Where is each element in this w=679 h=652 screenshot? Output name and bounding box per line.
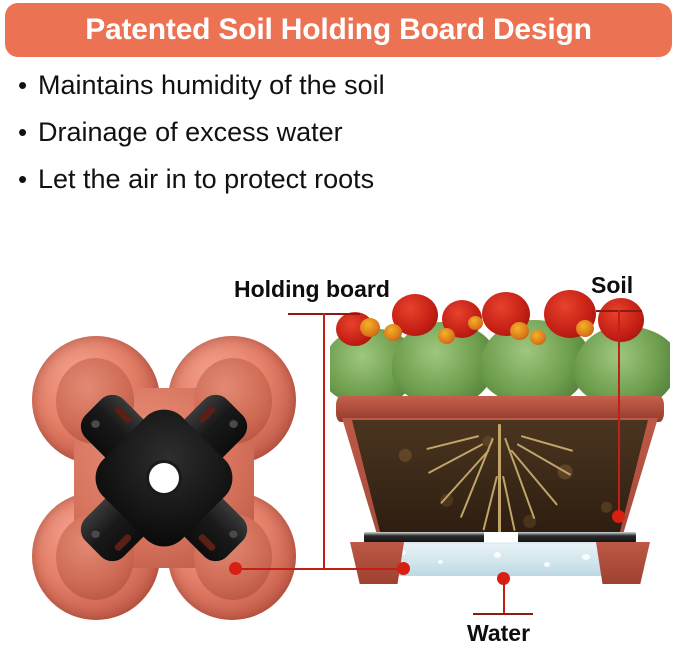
feature-list: • Maintains humidity of the soil • Drain… xyxy=(18,72,578,213)
board-screw xyxy=(91,419,100,428)
water-sparkle xyxy=(582,554,590,560)
callout-label-water: Water xyxy=(467,622,530,645)
topdown-pot-illustration xyxy=(14,328,314,628)
pot-foot xyxy=(596,542,650,584)
callout-line-holding-board xyxy=(323,313,325,569)
callout-label-holding-board: Holding board xyxy=(234,278,390,301)
holding-board-plate xyxy=(61,375,267,581)
product-diagram: Holding board Soil Water xyxy=(0,250,679,652)
flower-bloom-small xyxy=(576,320,594,337)
board-screw xyxy=(229,529,238,538)
holding-board-gap xyxy=(484,532,518,543)
board-screw xyxy=(229,419,238,428)
board-screw xyxy=(91,529,100,538)
list-item: • Let the air in to protect roots xyxy=(18,166,578,213)
callout-dot-holding-board-right xyxy=(397,562,410,575)
bullet-icon: • xyxy=(18,119,38,145)
header-banner: Patented Soil Holding Board Design xyxy=(5,3,672,57)
callout-line-soil xyxy=(618,310,620,516)
flower-bloom-small xyxy=(360,318,380,337)
root-strand xyxy=(502,476,516,531)
bullet-icon: • xyxy=(18,72,38,98)
flower-bloom-small xyxy=(468,316,483,330)
pot-foot xyxy=(350,542,404,584)
callout-line-holding-board-horizontal xyxy=(235,568,405,570)
bullet-icon: • xyxy=(18,166,38,192)
root-strand xyxy=(440,449,490,504)
list-item-label: Maintains humidity of the soil xyxy=(38,72,385,99)
callout-dot-holding-board-left xyxy=(229,562,242,575)
water-sparkle xyxy=(544,562,550,567)
list-item: • Maintains humidity of the soil xyxy=(18,72,578,119)
flower-bloom-small xyxy=(384,324,402,341)
water-sparkle xyxy=(494,552,501,558)
page-title: Patented Soil Holding Board Design xyxy=(85,15,592,45)
flower-bloom-small xyxy=(510,322,529,340)
callout-bar-water xyxy=(473,613,533,615)
water-sparkle xyxy=(438,560,443,564)
list-item-label: Let the air in to protect roots xyxy=(38,166,374,193)
root-strand xyxy=(482,476,497,531)
root-strand xyxy=(498,424,501,536)
flower-bloom-small xyxy=(530,330,546,345)
callout-line-water xyxy=(503,582,505,614)
list-item: • Drainage of excess water xyxy=(18,119,578,166)
list-item-label: Drainage of excess water xyxy=(38,119,343,146)
board-center-hole xyxy=(149,463,179,493)
callout-dot-soil xyxy=(612,510,625,523)
callout-label-soil: Soil xyxy=(591,274,633,297)
soil-layer xyxy=(352,420,648,538)
flower-bloom-small xyxy=(438,328,455,344)
flower-bloom xyxy=(598,298,644,342)
water-reservoir xyxy=(376,542,624,576)
root-strand xyxy=(428,443,484,474)
